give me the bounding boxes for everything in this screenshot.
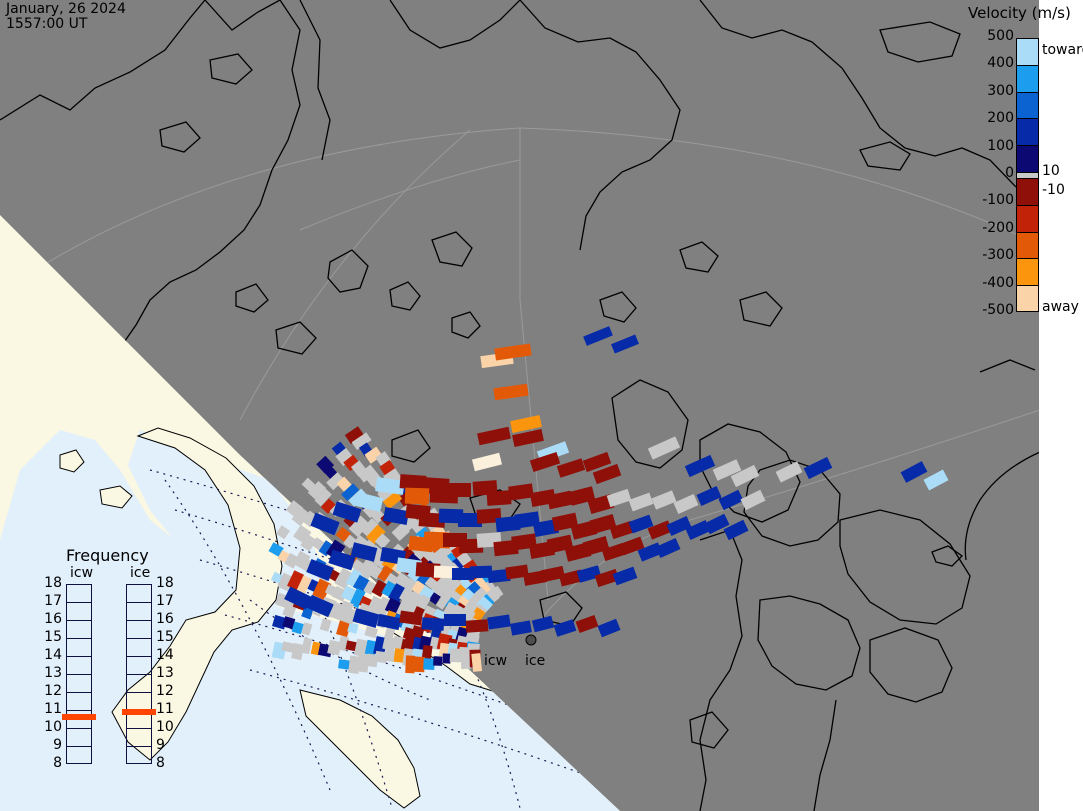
frequency-bar-icw[interactable] (66, 584, 92, 764)
frequency-segment-icw-9 (67, 747, 91, 765)
colorbar-tick-400: 400 (987, 55, 1014, 71)
velocity-cell[interactable] (422, 617, 445, 631)
frequency-segment-icw-5 (67, 675, 91, 693)
colorbar-away-label: away (1042, 299, 1079, 315)
frequency-tick-icw-9: 9 (40, 737, 62, 753)
frequency-tick-icw-10: 10 (40, 719, 62, 735)
colorbar-positive-threshold: 10 (1042, 163, 1060, 179)
frequency-tick-ice-16: 16 (156, 611, 178, 627)
frequency-tick-icw-12: 12 (40, 683, 62, 699)
colorbar-tick-labels: 5004003002001000-100-200-300-400-500 (960, 28, 1014, 328)
timestamp-time: 1557:00 UT (6, 16, 87, 32)
velocity-cell[interactable] (405, 488, 430, 505)
frequency-segment-icw-6 (67, 693, 91, 711)
colorbar-swatch-toward-1[interactable] (1016, 65, 1039, 92)
frequency-segment-icw-0 (67, 585, 91, 603)
frequency-tick-icw-11: 11 (40, 701, 62, 717)
frequency-segment-ice-0 (127, 585, 151, 603)
frequency-tick-icw-14: 14 (40, 647, 62, 663)
frequency-tick-icw-8: 8 (40, 755, 62, 771)
frequency-tick-ice-10: 10 (156, 719, 178, 735)
frequency-legend-title: Frequency (66, 546, 149, 565)
frequency-tick-ice-9: 9 (156, 737, 178, 753)
frequency-segment-ice-9 (127, 747, 151, 765)
site-label-icw: icw (484, 653, 507, 669)
colorbar-swatches[interactable] (1016, 38, 1039, 312)
frequency-segment-icw-3 (67, 639, 91, 657)
frequency-segment-icw-1 (67, 603, 91, 621)
frequency-segment-ice-1 (127, 603, 151, 621)
velocity-cell[interactable] (400, 474, 427, 490)
frequency-tick-ice-8: 8 (156, 755, 178, 771)
velocity-cell[interactable] (405, 655, 415, 673)
frequency-segment-ice-2 (127, 621, 151, 639)
frequency-tick-icw-13: 13 (40, 665, 62, 681)
colorbar-tick-200: 200 (987, 110, 1014, 126)
colorbar-tick-100: 100 (987, 138, 1014, 154)
colorbar-tick-300: 300 (987, 83, 1014, 99)
frequency-segment-ice-4 (127, 657, 151, 675)
colorbar-swatch-toward-3[interactable] (1016, 118, 1039, 145)
frequency-segment-icw-8 (67, 729, 91, 747)
timestamp-date: January, 26 2024 (6, 1, 126, 17)
frequency-bar-ice[interactable] (126, 584, 152, 764)
frequency-marker-ice (122, 709, 156, 715)
velocity-cell[interactable] (414, 657, 425, 673)
colorbar-swatch-toward-2[interactable] (1016, 92, 1039, 119)
colorbar-panel (1039, 0, 1083, 811)
frequency-segment-ice-8 (127, 729, 151, 747)
timestamp: January, 26 20241557:00 UT (6, 2, 126, 32)
frequency-tick-ice-18: 18 (156, 575, 178, 591)
colorbar-toward-label: toward (1042, 42, 1083, 58)
velocity-cell[interactable] (487, 490, 512, 506)
frequency-marker-icw (62, 714, 96, 720)
velocity-cell[interactable] (444, 614, 466, 626)
frequency-segment-ice-3 (127, 639, 151, 657)
velocity-cell[interactable] (433, 656, 442, 666)
velocity-cell[interactable] (442, 653, 451, 663)
colorbar-tick--500: -500 (982, 302, 1014, 318)
velocity-cell[interactable] (423, 658, 435, 670)
frequency-tick-ice-14: 14 (156, 647, 178, 663)
colorbar-swatch-away-1[interactable] (1016, 205, 1039, 232)
colorbar-swatch-away-3[interactable] (1016, 258, 1039, 285)
frequency-tick-icw-16: 16 (40, 611, 62, 627)
colorbar-swatch-toward-4[interactable] (1016, 145, 1039, 172)
frequency-legend-ice-label: ice (130, 565, 150, 581)
velocity-cell[interactable] (471, 653, 482, 672)
frequency-tick-ice-11: 11 (156, 701, 178, 717)
colorbar-swatch-toward-0[interactable] (1016, 38, 1039, 65)
frequency-tick-ice-12: 12 (156, 683, 178, 699)
frequency-tick-icw-15: 15 (40, 629, 62, 645)
colorbar-swatch-away-4[interactable] (1016, 285, 1039, 312)
colorbar-tick--200: -200 (982, 220, 1014, 236)
colorbar-tick--300: -300 (982, 247, 1014, 263)
colorbar-tick-500: 500 (987, 28, 1014, 44)
site-label-ice: ice (525, 653, 545, 669)
frequency-legend-icw-label: icw (70, 565, 93, 581)
frequency-tick-ice-15: 15 (156, 629, 178, 645)
velocity-cell[interactable] (447, 483, 471, 497)
frequency-segment-icw-4 (67, 657, 91, 675)
radar-site-marker[interactable] (526, 635, 536, 645)
colorbar-tick--400: -400 (982, 275, 1014, 291)
frequency-legend[interactable]: Frequency icw ice 18171615141312111098 1… (46, 546, 191, 791)
colorbar-negative-threshold: -10 (1042, 182, 1065, 198)
colorbar-title: Velocity (m/s) (968, 4, 1083, 22)
frequency-segment-ice-5 (127, 675, 151, 693)
superdarn-velocity-map: January, 26 20241557:00 UT icw ice Veloc… (0, 0, 1083, 811)
frequency-tick-ice-13: 13 (156, 665, 178, 681)
frequency-tick-ice-17: 17 (156, 593, 178, 609)
colorbar-tick-0: 0 (1005, 165, 1014, 181)
velocity-cell[interactable] (408, 536, 433, 552)
colorbar-swatch-away-2[interactable] (1016, 232, 1039, 259)
velocity-cell[interactable] (466, 619, 489, 633)
frequency-tick-icw-17: 17 (40, 593, 62, 609)
colorbar-swatch-away-0[interactable] (1016, 178, 1039, 205)
frequency-tick-icw-18: 18 (40, 575, 62, 591)
frequency-segment-icw-2 (67, 621, 91, 639)
colorbar-tick--100: -100 (982, 192, 1014, 208)
